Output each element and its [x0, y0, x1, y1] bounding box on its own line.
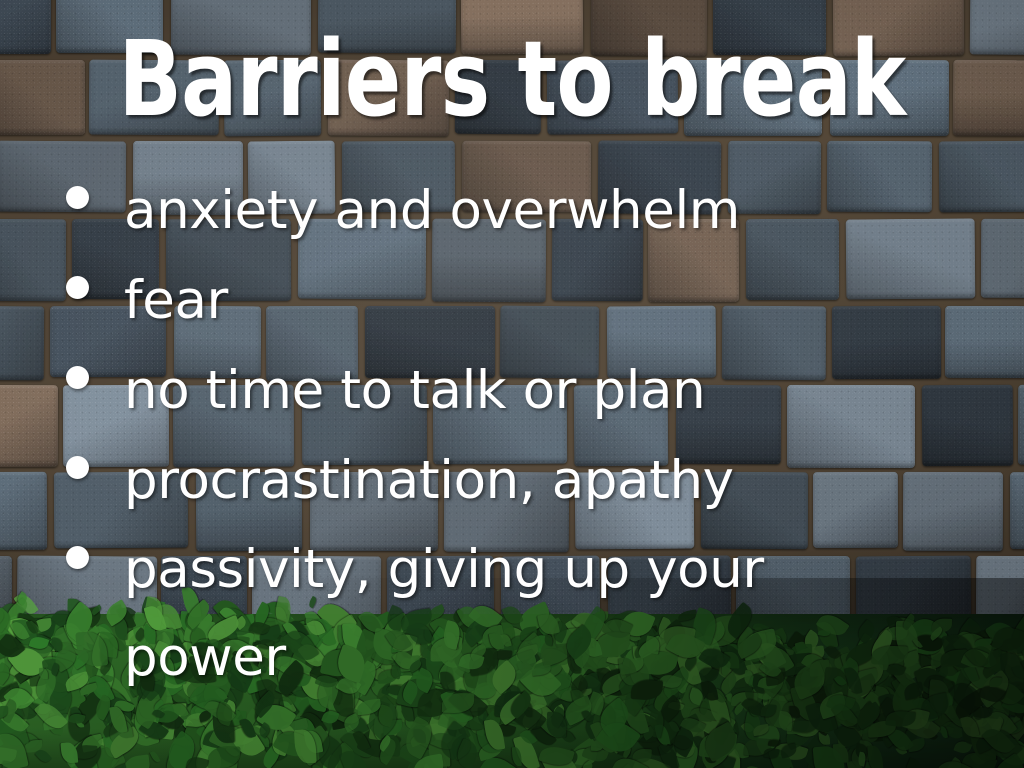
list-item: fear [56, 256, 984, 346]
list-item-label: procrastination, apathy [124, 436, 984, 526]
bullet-dot-icon [66, 456, 89, 479]
list-item-label: fear [124, 256, 984, 346]
list-item-label: anxiety and overwhelm [124, 166, 984, 256]
bullet-dot-icon [66, 186, 89, 209]
list-item-label: passivity, giving up your power [124, 526, 824, 702]
bullet-dot-icon [66, 276, 89, 299]
slide: Barriers to break anxiety and overwhelm … [0, 0, 1024, 768]
list-item: no time to talk or plan [56, 346, 984, 436]
slide-content: Barriers to break anxiety and overwhelm … [0, 0, 1024, 768]
bullet-list: anxiety and overwhelm fear no time to ta… [56, 166, 984, 702]
bullet-dot-icon [66, 546, 89, 569]
list-item: anxiety and overwhelm [56, 166, 984, 256]
list-item-label: no time to talk or plan [124, 346, 984, 436]
page-title: Barriers to break [102, 26, 921, 132]
list-item: passivity, giving up your power [56, 526, 984, 702]
bullet-dot-icon [66, 366, 89, 389]
list-item: procrastination, apathy [56, 436, 984, 526]
